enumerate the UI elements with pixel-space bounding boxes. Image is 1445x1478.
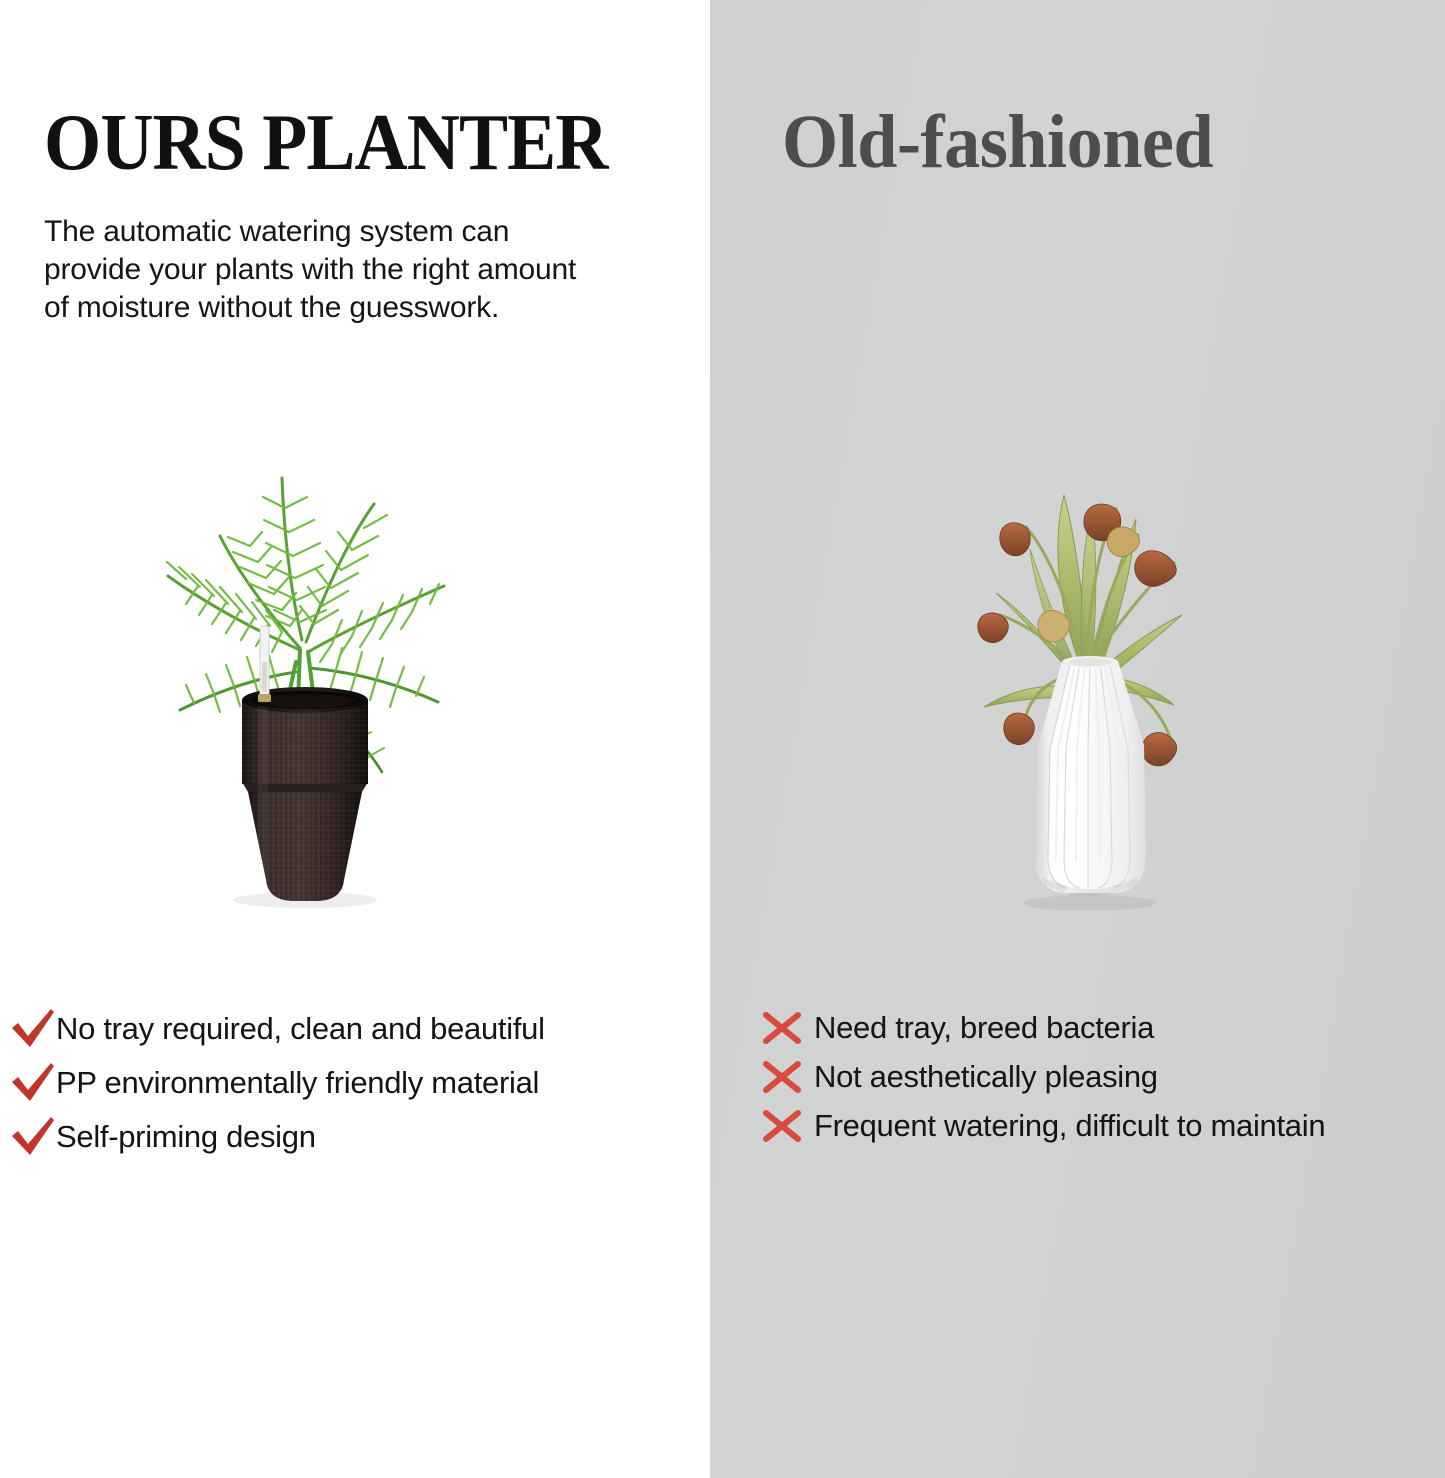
product-description: The automatic watering system can provid… <box>44 213 704 327</box>
list-item-label: Not aesthetically pleasing <box>814 1057 1158 1097</box>
product-image-old-fashioned-vase <box>930 415 1250 910</box>
check-icon <box>8 1008 56 1050</box>
check-icon <box>8 1062 56 1104</box>
list-item: Need tray, breed bacteria <box>758 1008 1398 1048</box>
list-item-label: Self-priming design <box>56 1116 316 1157</box>
benefits-list: No tray required, clean and beautiful PP… <box>8 1008 608 1170</box>
comparison-infographic: OURS PLANTER Old-fashioned The automatic… <box>0 0 1445 1478</box>
page-title-ours: OURS PLANTER <box>44 103 608 183</box>
water-level-indicator <box>258 626 271 702</box>
product-image-ours-planter <box>150 400 460 910</box>
list-item-label: PP environmentally friendly material <box>56 1062 539 1103</box>
list-item-label: Need tray, breed bacteria <box>814 1008 1154 1048</box>
cross-icon <box>758 1106 814 1146</box>
cross-icon <box>758 1008 814 1048</box>
cross-icon <box>758 1057 814 1097</box>
planter-pot <box>233 687 377 908</box>
list-item: Not aesthetically pleasing <box>758 1057 1398 1097</box>
drawbacks-list: Need tray, breed bacteria Not aesthetica… <box>758 1008 1398 1155</box>
list-item-label: No tray required, clean and beautiful <box>56 1008 545 1049</box>
page-title-old-fashioned: Old-fashioned <box>782 104 1213 180</box>
check-icon <box>8 1116 56 1158</box>
list-item: Frequent watering, difficult to maintain <box>758 1106 1398 1146</box>
list-item-label: Frequent watering, difficult to maintain <box>814 1106 1325 1146</box>
list-item: Self-priming design <box>8 1116 608 1158</box>
list-item: PP environmentally friendly material <box>8 1062 608 1104</box>
list-item: No tray required, clean and beautiful <box>8 1008 608 1050</box>
